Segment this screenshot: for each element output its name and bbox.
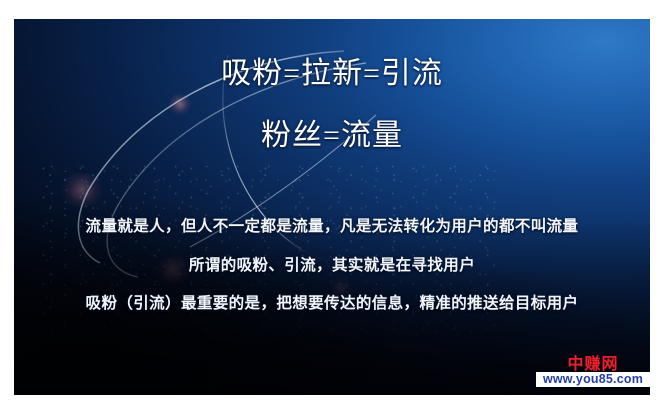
slide-title-block: 吸粉=拉新=引流 粉丝=流量: [14, 59, 650, 151]
watermark-url: www.you85.com: [543, 373, 643, 386]
watermark: 中赚网 www.you85.com: [536, 357, 650, 387]
slide-image: 吸粉=拉新=引流 粉丝=流量 流量就是人，但人不一定都是流量，凡是无法转化为用户…: [14, 19, 650, 395]
slide-body-block: 流量就是人，但人不一定都是流量，凡是无法转化为用户的都不叫流量 所谓的吸粉、引流…: [14, 219, 650, 312]
watermark-site-name: 中赚网: [536, 357, 650, 373]
body-line-2: 所谓的吸粉、引流，其实就是在寻找用户: [14, 258, 650, 274]
page-canvas: 吸粉=拉新=引流 粉丝=流量 流量就是人，但人不一定都是流量，凡是无法转化为用户…: [0, 0, 660, 402]
title-line-1: 吸粉=拉新=引流: [14, 59, 650, 89]
title-line-2: 粉丝=流量: [14, 121, 650, 151]
body-line-3: 吸粉（引流）最重要的是，把想要传达的信息，精准的推送给目标用户: [14, 296, 650, 312]
watermark-url-strip: www.you85.com: [536, 372, 650, 387]
body-line-1: 流量就是人，但人不一定都是流量，凡是无法转化为用户的都不叫流量: [14, 219, 650, 235]
